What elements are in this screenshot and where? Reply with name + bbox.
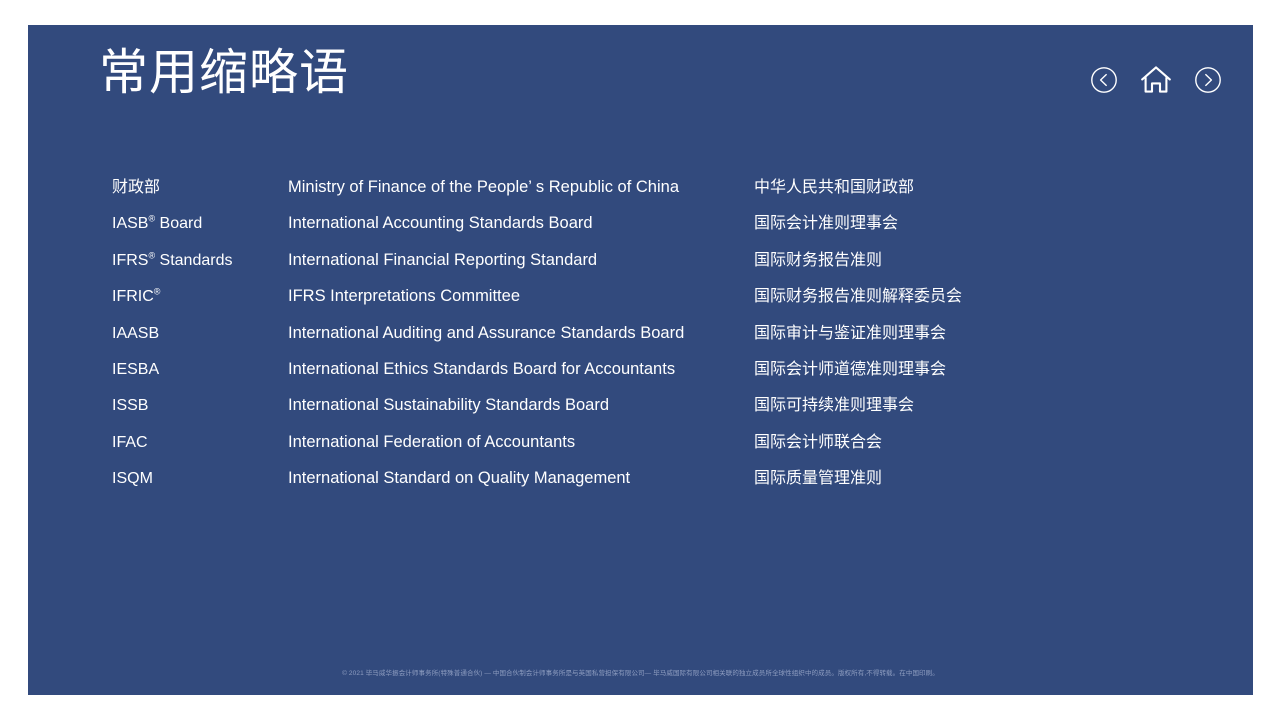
copyright-footer: © 2021 毕马威华振会计师事务所(特殊普通合伙) — 中国合伙制会计师事务所… <box>28 667 1253 677</box>
abbreviation-cell: IFRIC® <box>112 288 288 306</box>
english-name-cell: International Accounting Standards Board <box>288 214 754 233</box>
chevron-left-circle-icon[interactable] <box>1087 63 1121 97</box>
chinese-name-cell: 国际审计与鉴证准则理事会 <box>754 319 1192 343</box>
abbreviation-cell: ISSB <box>112 397 288 415</box>
abbreviation-cell: IFRS® Standards <box>112 252 288 270</box>
chinese-name-cell: 国际会计师道德准则理事会 <box>754 355 1192 379</box>
slide-canvas: 常用缩略语 财政部 Ministry of Finance of the Peo… <box>28 25 1253 695</box>
abbreviation-text: IFRIC <box>112 288 154 305</box>
abbreviation-text: ISSB <box>112 397 148 414</box>
abbreviations-table: 财政部 Ministry of Finance of the People’ s… <box>112 173 1192 501</box>
chinese-name-cell: 中华人民共和国财政部 <box>754 173 1192 197</box>
english-name-cell: International Standard on Quality Manage… <box>288 469 754 488</box>
abbreviation-suffix: Board <box>155 215 202 232</box>
table-row: IASB® Board International Accounting Sta… <box>112 209 1192 245</box>
abbreviation-suffix: Standards <box>155 252 232 269</box>
chinese-name-cell: 国际可持续准则理事会 <box>754 391 1192 415</box>
abbreviation-text: IASB <box>112 215 148 232</box>
table-row: IESBA International Ethics Standards Boa… <box>112 355 1192 391</box>
abbreviation-cell: IASB® Board <box>112 215 288 233</box>
home-icon[interactable] <box>1139 63 1173 97</box>
table-row: ISSB International Sustainability Standa… <box>112 391 1192 427</box>
abbreviation-cell: 财政部 <box>112 173 288 197</box>
english-name-cell: International Auditing and Assurance Sta… <box>288 324 754 343</box>
abbreviation-text: ISQM <box>112 470 153 487</box>
table-row: IFAC International Federation of Account… <box>112 428 1192 464</box>
chinese-name-cell: 国际会计师联合会 <box>754 428 1192 452</box>
navigation-controls <box>1087 63 1225 97</box>
chinese-name-cell: 国际财务报告准则解释委员会 <box>754 282 1192 306</box>
table-row: 财政部 Ministry of Finance of the People’ s… <box>112 173 1192 209</box>
chinese-name-cell: 国际质量管理准则 <box>754 464 1192 488</box>
table-row: IFRS® Standards International Financial … <box>112 246 1192 282</box>
abbreviation-cell: ISQM <box>112 470 288 488</box>
abbreviation-text: IFAC <box>112 434 148 451</box>
page-title: 常用缩略语 <box>99 45 349 103</box>
abbreviation-text: IFRS <box>112 252 148 269</box>
english-name-cell: International Sustainability Standards B… <box>288 396 754 415</box>
chevron-right-circle-icon[interactable] <box>1191 63 1225 97</box>
table-row: IFRIC® IFRS Interpretations Committee 国际… <box>112 282 1192 318</box>
table-row: IAASB International Auditing and Assuran… <box>112 319 1192 355</box>
english-name-cell: IFRS Interpretations Committee <box>288 287 754 306</box>
abbreviation-cell: IFAC <box>112 434 288 452</box>
abbreviation-text: 财政部 <box>112 179 160 196</box>
table-row: ISQM International Standard on Quality M… <box>112 464 1192 500</box>
abbreviation-cell: IESBA <box>112 361 288 379</box>
abbreviation-cell: IAASB <box>112 325 288 343</box>
english-name-cell: International Ethics Standards Board for… <box>288 360 754 379</box>
chinese-name-cell: 国际财务报告准则 <box>754 246 1192 270</box>
registered-mark: ® <box>154 287 161 297</box>
abbreviation-text: IESBA <box>112 361 159 378</box>
english-name-cell: International Federation of Accountants <box>288 433 754 452</box>
english-name-cell: Ministry of Finance of the People’ s Rep… <box>288 178 754 197</box>
chinese-name-cell: 国际会计准则理事会 <box>754 209 1192 233</box>
english-name-cell: International Financial Reporting Standa… <box>288 251 754 270</box>
abbreviation-text: IAASB <box>112 325 159 342</box>
